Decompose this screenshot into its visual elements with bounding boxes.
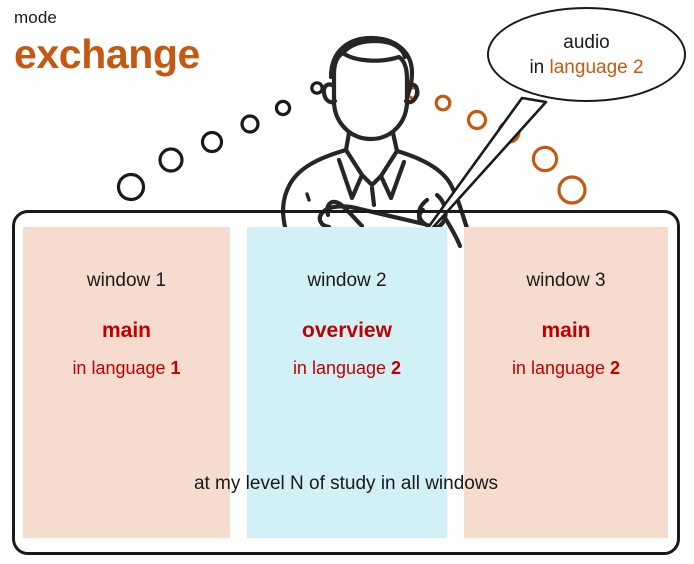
speech-bubble-line-1: audio	[563, 30, 610, 55]
window-2-language: in language 2	[247, 357, 447, 379]
window-3-language-prefix: in language	[512, 358, 610, 378]
speech-bubble-line-2-highlight: language 2	[550, 57, 644, 78]
mode-value: exchange	[14, 30, 200, 78]
window-3-language-number: 2	[610, 358, 620, 378]
window-2-title: window 2	[247, 269, 447, 292]
speech-bubble-line-2: in language 2	[529, 55, 643, 80]
window-3-kind: main	[464, 318, 668, 343]
window-1-language: in language 1	[23, 357, 230, 379]
orange-circle-trail-icon	[408, 88, 585, 203]
window-2-language-prefix: in language	[293, 358, 391, 378]
window-1-language-prefix: in language	[72, 358, 170, 378]
window-2-kind: overview	[247, 318, 447, 343]
window-2-language-number: 2	[391, 358, 401, 378]
window-3-title: window 3	[464, 269, 668, 292]
speech-bubble: audio in language 2	[487, 7, 686, 102]
window-1-language-number: 1	[171, 358, 181, 378]
speech-bubble-line-2-prefix: in	[529, 57, 544, 78]
header: mode exchange	[14, 8, 200, 78]
window-3-language: in language 2	[464, 357, 668, 379]
mode-label: mode	[14, 8, 200, 28]
window-1-kind: main	[23, 318, 230, 343]
black-circle-trail-icon	[119, 83, 323, 200]
windows-container: window 1 main in language 1 window 2 ove…	[12, 210, 680, 555]
window-1-title: window 1	[23, 269, 230, 292]
footer-note: at my level N of study in all windows	[12, 472, 680, 495]
